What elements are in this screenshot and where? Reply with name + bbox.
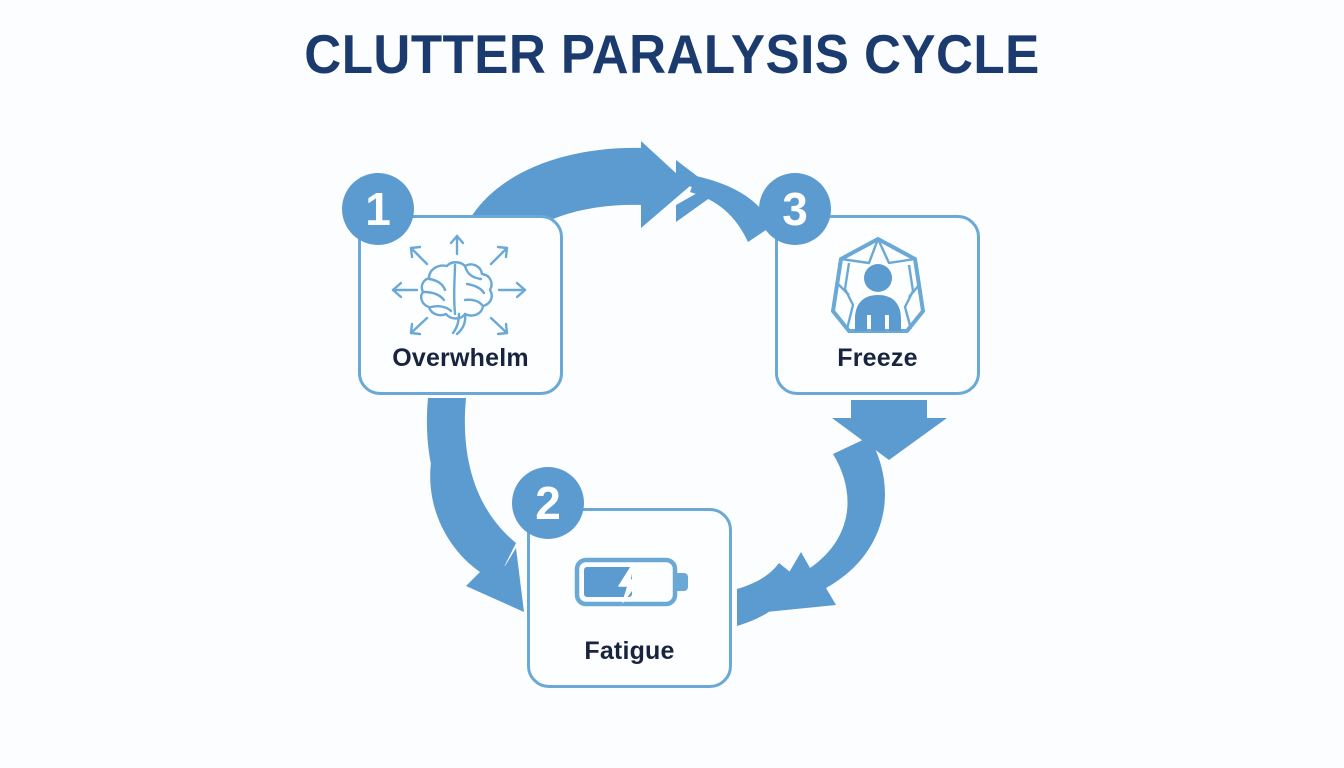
arrow-freeze-to-fatigue: [737, 398, 947, 626]
step-badge-1: 1: [342, 173, 414, 245]
step-badge-3: 3: [759, 173, 831, 245]
person-frozen-in-ice-icon: [819, 234, 937, 342]
arrow-fatigue-to-overwhelm: [427, 397, 524, 612]
step-badge-2: 2: [512, 467, 584, 539]
diagram-canvas: CLUTTER PARALYSIS CYCLE: [0, 0, 1344, 768]
cycle-node-label: Fatigue: [584, 637, 674, 666]
cycle-node-label: Freeze: [837, 344, 917, 373]
cycle-node-label: Overwhelm: [392, 344, 529, 373]
low-battery-bolt-icon: [565, 527, 695, 635]
brain-radiating-arrows-icon: [385, 234, 537, 342]
